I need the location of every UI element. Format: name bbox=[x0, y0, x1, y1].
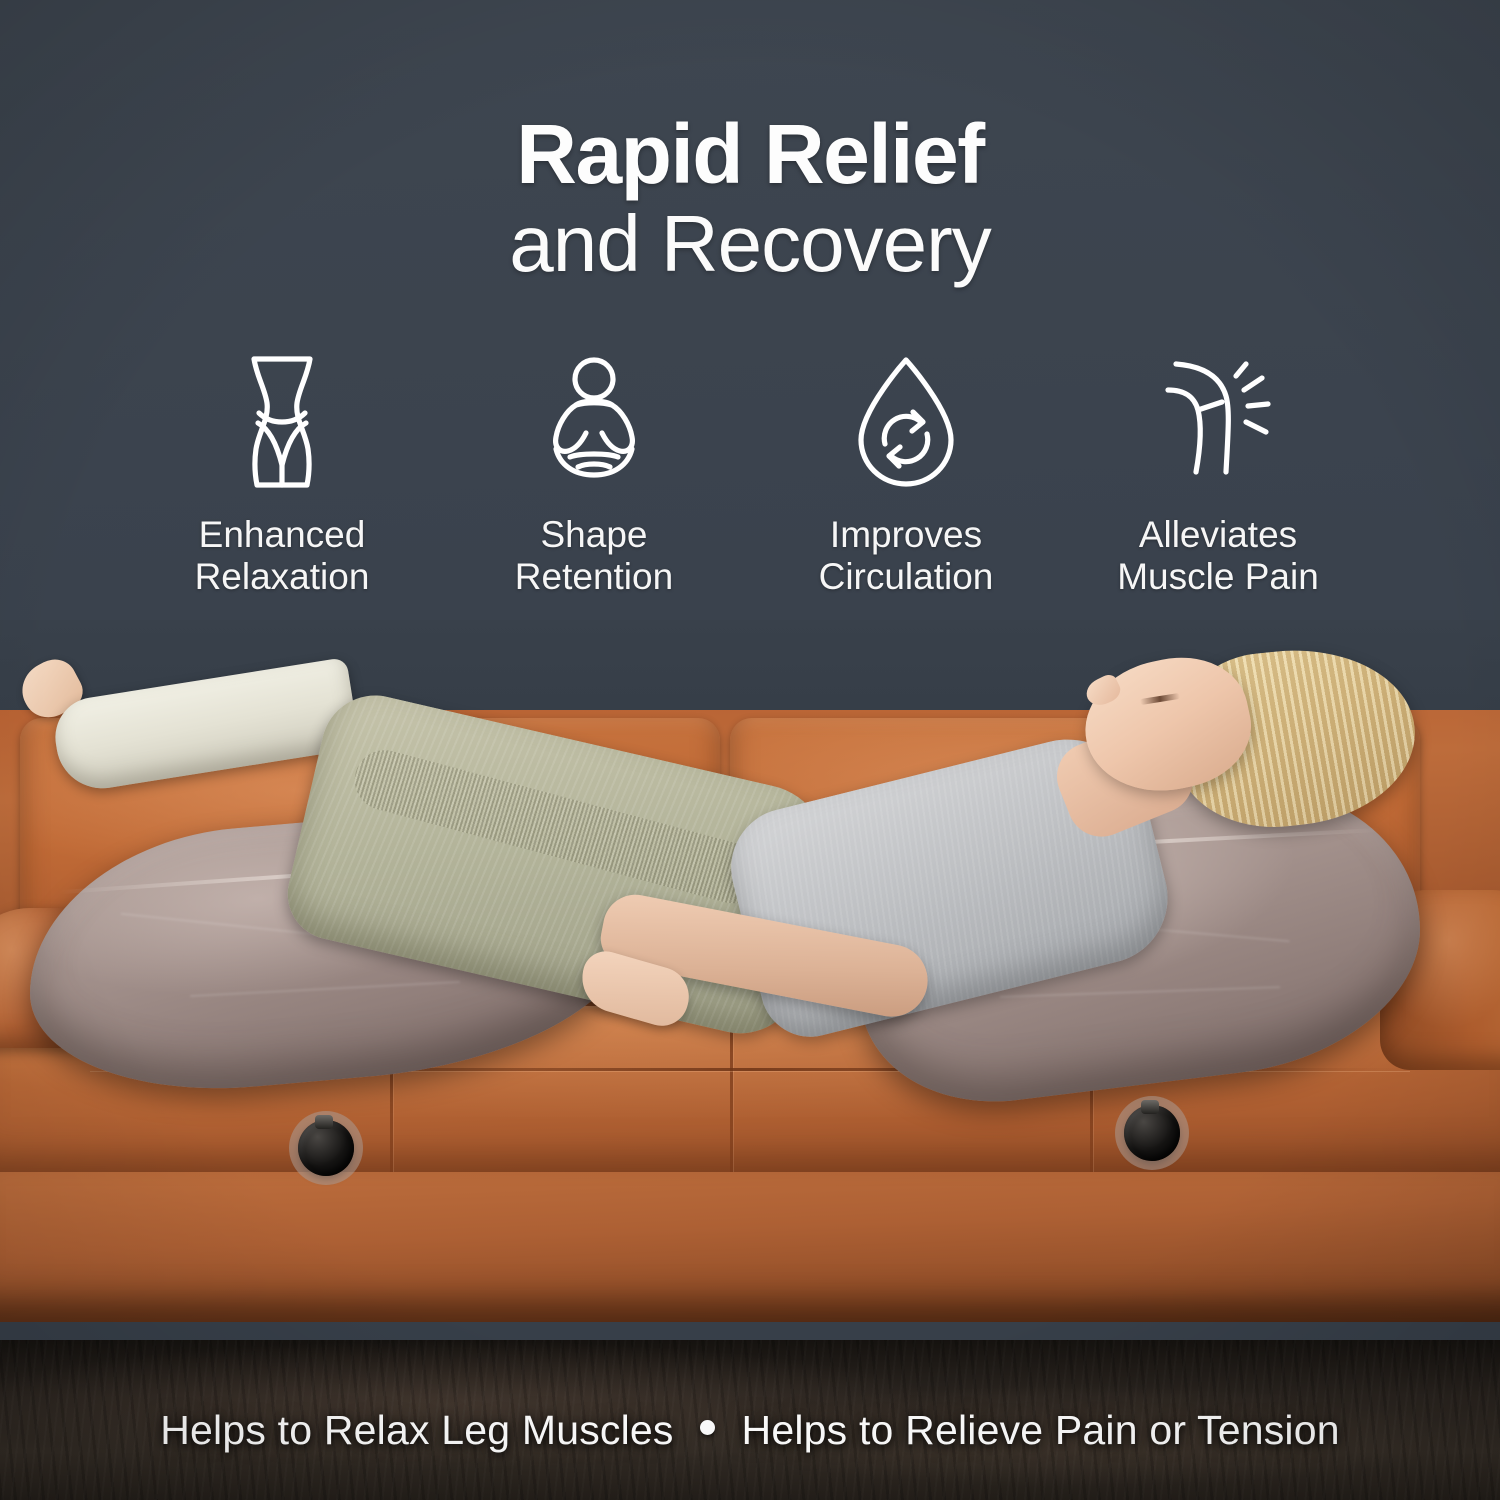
footer-bullet-separator bbox=[700, 1420, 715, 1435]
footer-benefit-right: Helps to Relieve Pain or Tension bbox=[742, 1407, 1340, 1454]
footer-benefits-strip: Helps to Relax Leg Muscles Helps to Reli… bbox=[0, 1407, 1500, 1454]
feature-enhanced-relaxation: Enhanced Relaxation bbox=[126, 352, 438, 598]
feature-improves-circulation: Improves Circulation bbox=[750, 352, 1062, 598]
header-block: Rapid Relief and Recovery bbox=[0, 0, 1500, 330]
feature-label-line1: Enhanced bbox=[126, 514, 438, 556]
feature-label-line1: Alleviates bbox=[1062, 514, 1374, 556]
feature-label-line1: Improves bbox=[750, 514, 1062, 556]
footer-benefit-left: Helps to Relax Leg Muscles bbox=[160, 1407, 673, 1454]
torso-waist-icon bbox=[126, 352, 438, 492]
air-valve-cap[interactable] bbox=[1124, 1105, 1180, 1161]
feature-alleviates-muscle-pain: Alleviates Muscle Pain bbox=[1062, 352, 1374, 598]
feature-label-alleviates-muscle-pain: Alleviates Muscle Pain bbox=[1062, 514, 1374, 598]
feature-benefits-row: Enhanced Relaxation Shape Retention bbox=[0, 352, 1500, 598]
headline-primary: Rapid Relief bbox=[0, 112, 1500, 196]
product-marketing-image: Rapid Relief and Recovery Enhanced Relax… bbox=[0, 0, 1500, 1500]
feature-label-line1: Shape bbox=[438, 514, 750, 556]
feature-label-shape-retention: Shape Retention bbox=[438, 514, 750, 598]
knee-joint-pain-icon bbox=[1062, 352, 1374, 492]
sofa-base-skirt bbox=[0, 1172, 1500, 1322]
meditation-lotus-icon bbox=[438, 352, 750, 492]
feature-label-enhanced-relaxation: Enhanced Relaxation bbox=[126, 514, 438, 598]
product-lifestyle-photo bbox=[0, 620, 1500, 1500]
air-valve-cap[interactable] bbox=[298, 1120, 354, 1176]
water-drop-refresh-icon bbox=[750, 352, 1062, 492]
feature-label-line2: Relaxation bbox=[126, 556, 438, 598]
feature-label-improves-circulation: Improves Circulation bbox=[750, 514, 1062, 598]
feature-label-line2: Circulation bbox=[750, 556, 1062, 598]
feature-label-line2: Retention bbox=[438, 556, 750, 598]
feature-shape-retention: Shape Retention bbox=[438, 352, 750, 598]
feature-label-line2: Muscle Pain bbox=[1062, 556, 1374, 598]
headline-secondary: and Recovery bbox=[0, 202, 1500, 286]
